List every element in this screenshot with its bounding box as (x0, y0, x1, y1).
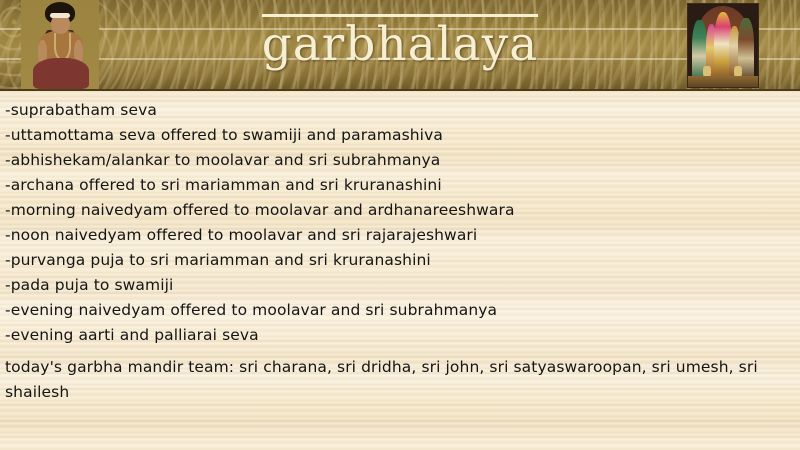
list-item: -abhishekam/alankar to moolavar and sri … (5, 148, 792, 173)
page-title: garbhalaya (0, 14, 800, 72)
page-title-text: garbhalaya (262, 14, 539, 69)
slide-canvas: garbhalaya -suprabatham seva -uttamottam… (0, 0, 800, 450)
list-item: -uttamottama seva offered to swamiji and… (5, 123, 792, 148)
list-item: -pada puja to swamiji (5, 273, 792, 298)
header-banner: garbhalaya (0, 0, 800, 91)
content-area: -suprabatham seva -uttamottama seva offe… (0, 89, 800, 450)
list-item: -archana offered to sri mariamman and sr… (5, 173, 792, 198)
list-item: -morning naivedyam offered to moolavar a… (5, 198, 792, 223)
list-item: -evening aarti and palliarai seva (5, 323, 792, 348)
list-item: -evening naivedyam offered to moolavar a… (5, 298, 792, 323)
seva-schedule-list: -suprabatham seva -uttamottama seva offe… (5, 98, 792, 348)
shrine-floor (688, 76, 758, 87)
team-credit-note: today's garbha mandir team: sri charana,… (5, 355, 787, 405)
list-item: -suprabatham seva (5, 98, 792, 123)
list-item: -noon naivedyam offered to moolavar and … (5, 223, 792, 248)
list-item: -purvanga puja to sri mariamman and sri … (5, 248, 792, 273)
